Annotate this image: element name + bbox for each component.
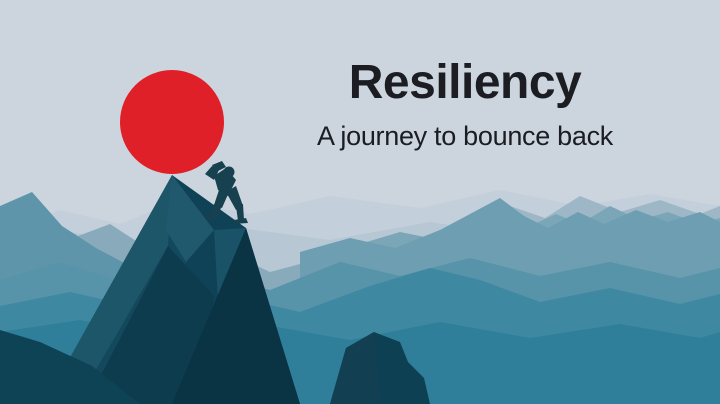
climber-foot-front [205,214,218,219]
page-subtitle: A journey to bounce back [255,122,675,152]
text-block: Resiliency A journey to bounce back [255,58,675,152]
page-title: Resiliency [255,58,675,108]
slide-canvas: Resiliency A journey to bounce back [0,0,720,404]
red-boulder [120,70,224,174]
